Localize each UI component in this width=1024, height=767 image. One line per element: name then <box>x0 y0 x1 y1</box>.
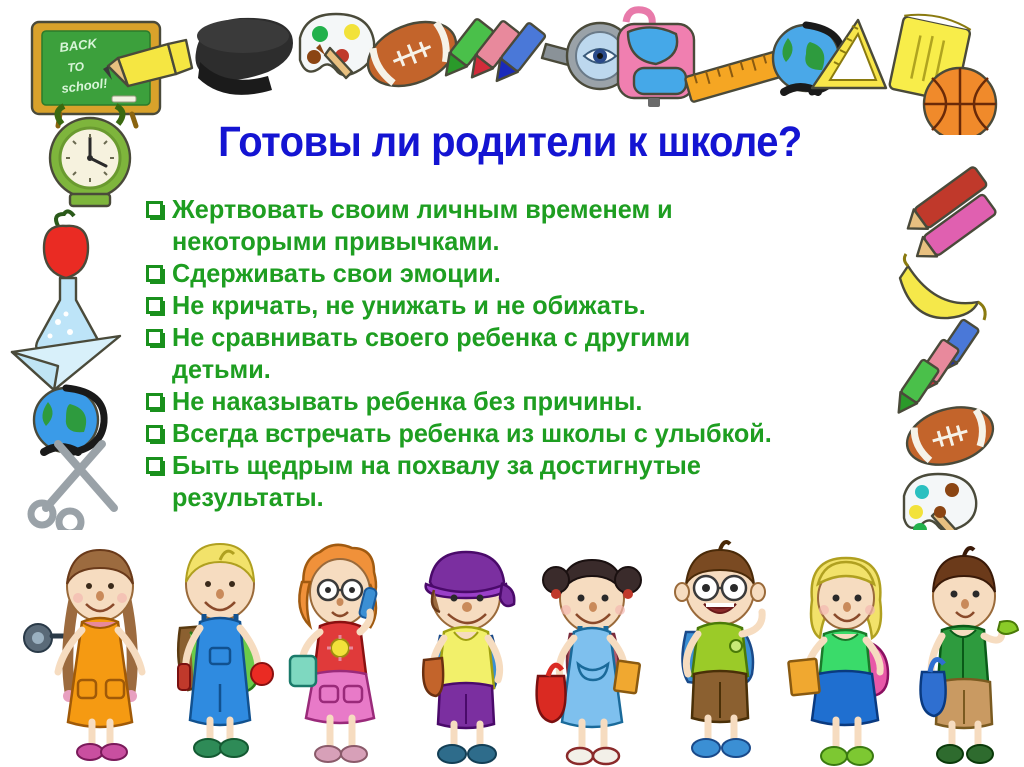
scissors-icon <box>31 444 114 530</box>
hollow-square-bullet-icon <box>146 393 163 410</box>
hollow-square-bullet-icon <box>146 457 163 474</box>
list-item-continuation: некоторыми привычками. <box>146 226 906 257</box>
list-item: Быть щедрым на похвалу за достигнутые <box>146 450 906 481</box>
hollow-square-bullet-icon <box>146 201 163 218</box>
pencils-icon <box>901 166 997 266</box>
paper-airplane-icon <box>12 336 120 390</box>
children-illustration-row <box>0 520 1024 767</box>
backpack-icon <box>618 10 694 107</box>
child-figure <box>921 548 1019 763</box>
list-item-text: Сдерживать свои эмоции. <box>172 258 501 289</box>
bullet-list: Жертвовать своим личным временем и некот… <box>146 194 906 514</box>
apple-icon <box>44 211 88 278</box>
banana-icon <box>900 254 985 320</box>
alarm-clock-icon <box>50 106 130 206</box>
list-item-text: результаты. <box>172 482 324 513</box>
child-figure <box>788 558 888 765</box>
child-figure <box>423 552 514 763</box>
basketball-icon <box>924 68 996 135</box>
list-item-continuation: детьми. <box>146 354 906 385</box>
list-item-text: некоторыми привычками. <box>172 226 500 257</box>
right-decor-border <box>890 130 1024 530</box>
list-item-text: Быть щедрым на похвалу за достигнутые <box>172 450 701 481</box>
child-figure <box>290 545 377 762</box>
child-figure <box>178 544 273 757</box>
list-item-text: Всегда встречать ребенка из школы с улыб… <box>172 418 772 449</box>
small-bell-icon <box>24 624 66 652</box>
list-item: Всегда встречать ребенка из школы с улыб… <box>146 418 906 449</box>
list-item: Не сравнивать своего ребенка с другими <box>146 322 906 353</box>
page-title: Готовы ли родители к школе? <box>166 118 854 167</box>
slide-canvas: BACK TO school! <box>0 0 1024 767</box>
left-decor-border <box>0 100 160 530</box>
list-item-continuation: результаты. <box>146 482 906 513</box>
svg-text:TO: TO <box>67 59 85 75</box>
hollow-square-bullet-icon <box>146 425 163 442</box>
child-figure <box>537 560 641 764</box>
football-icon <box>900 398 999 474</box>
list-item-text: Жертвовать своим личным временем и <box>172 194 673 225</box>
child-figure <box>675 542 765 757</box>
list-item: Не кричать, не унижать и не обижать. <box>146 290 906 321</box>
hollow-square-bullet-icon <box>146 297 163 314</box>
child-figure <box>58 550 142 760</box>
list-item-text: Не кричать, не унижать и не обижать. <box>172 290 646 321</box>
list-item: Сдерживать свои эмоции. <box>146 258 906 289</box>
globe-icon <box>34 388 104 452</box>
hollow-square-bullet-icon <box>146 329 163 346</box>
list-item-text: Не наказывать ребенка без причины. <box>172 386 642 417</box>
list-item-text: детьми. <box>172 354 271 385</box>
list-item: Не наказывать ребенка без причины. <box>146 386 906 417</box>
list-item-text: Не сравнивать своего ребенка с другими <box>172 322 690 353</box>
crayons-icon <box>437 18 546 88</box>
paint-palette-icon <box>300 14 374 78</box>
list-item: Жертвовать своим личным временем и <box>146 194 906 225</box>
graduation-cap-icon <box>195 18 293 95</box>
hollow-square-bullet-icon <box>146 265 163 282</box>
